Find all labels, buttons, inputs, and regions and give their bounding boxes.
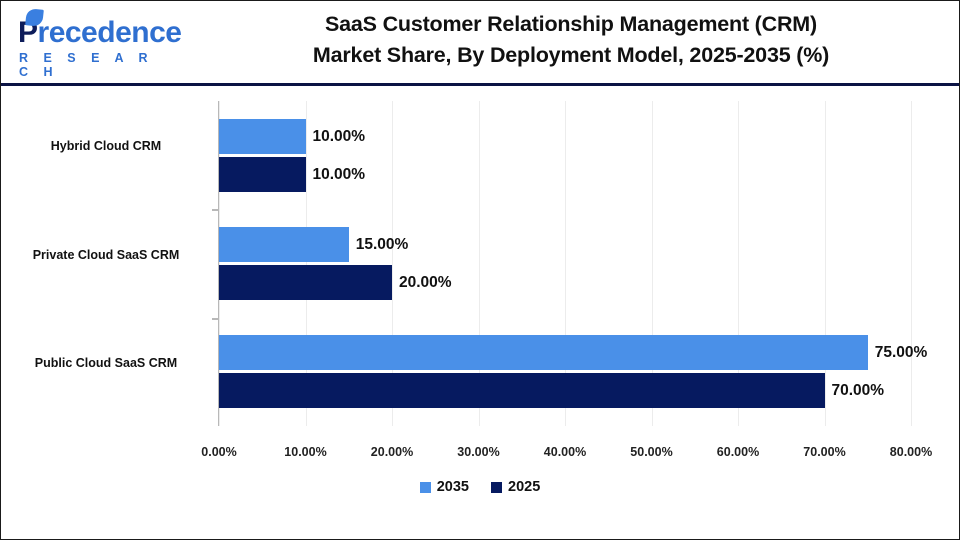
bar-value-label: 70.00% (832, 373, 885, 408)
category-label: Public Cloud SaaS CRM (1, 355, 211, 372)
x-axis-tick-label: 50.00% (612, 445, 692, 459)
chart-body: 0.00%10.00%20.00%30.00%40.00%50.00%60.00… (1, 89, 959, 538)
logo-wordmark: Precedence (15, 17, 175, 49)
plot-area: 0.00%10.00%20.00%30.00%40.00%50.00%60.00… (219, 101, 911, 426)
category-label: Hybrid Cloud CRM (1, 138, 211, 155)
bar-value-label: 10.00% (313, 119, 366, 154)
precedence-research-logo: Precedence R E S E A R C H (15, 17, 175, 69)
legend-item-2025[interactable]: 2025 (491, 479, 540, 495)
legend-label: 2035 (437, 479, 469, 495)
logo-subtitle: R E S E A R C H (15, 51, 175, 79)
x-axis-tick-label: 10.00% (266, 445, 346, 459)
bar-value-label: 10.00% (313, 157, 366, 192)
y-axis-tick (212, 318, 219, 320)
bar-2035-1 (219, 227, 349, 262)
title-line-1: SaaS Customer Relationship Management (C… (197, 9, 945, 40)
x-axis-tick-label: 70.00% (785, 445, 865, 459)
bar-value-label: 75.00% (875, 335, 928, 370)
legend-label: 2025 (508, 479, 540, 495)
bar-2025-2 (219, 373, 825, 408)
bar-value-label: 15.00% (356, 227, 409, 262)
y-axis-tick (212, 209, 219, 211)
chart-legend: 20352025 (1, 479, 959, 495)
x-axis-tick-label: 60.00% (698, 445, 778, 459)
logo-word-rest: recedence (38, 16, 182, 49)
gridline (911, 101, 912, 426)
x-axis-tick-label: 0.00% (179, 445, 259, 459)
legend-item-2035[interactable]: 2035 (420, 479, 469, 495)
chart-header: Precedence R E S E A R C H SaaS Customer… (1, 1, 959, 86)
x-axis-tick-label: 20.00% (352, 445, 432, 459)
chart-page: Precedence R E S E A R C H SaaS Customer… (0, 0, 960, 540)
x-axis-tick-label: 40.00% (525, 445, 605, 459)
bar-value-label: 20.00% (399, 265, 452, 300)
bar-2025-1 (219, 265, 392, 300)
x-axis-tick-label: 30.00% (439, 445, 519, 459)
bar-2035-0 (219, 119, 306, 154)
legend-swatch-icon (420, 482, 431, 493)
page-title: SaaS Customer Relationship Management (C… (197, 9, 945, 71)
category-label: Private Cloud SaaS CRM (1, 247, 211, 264)
bar-2025-0 (219, 157, 306, 192)
gridline (825, 101, 826, 426)
x-axis-tick-label: 80.00% (871, 445, 951, 459)
title-line-2: Market Share, By Deployment Model, 2025-… (197, 40, 945, 71)
legend-swatch-icon (491, 482, 502, 493)
bar-2035-2 (219, 335, 868, 370)
